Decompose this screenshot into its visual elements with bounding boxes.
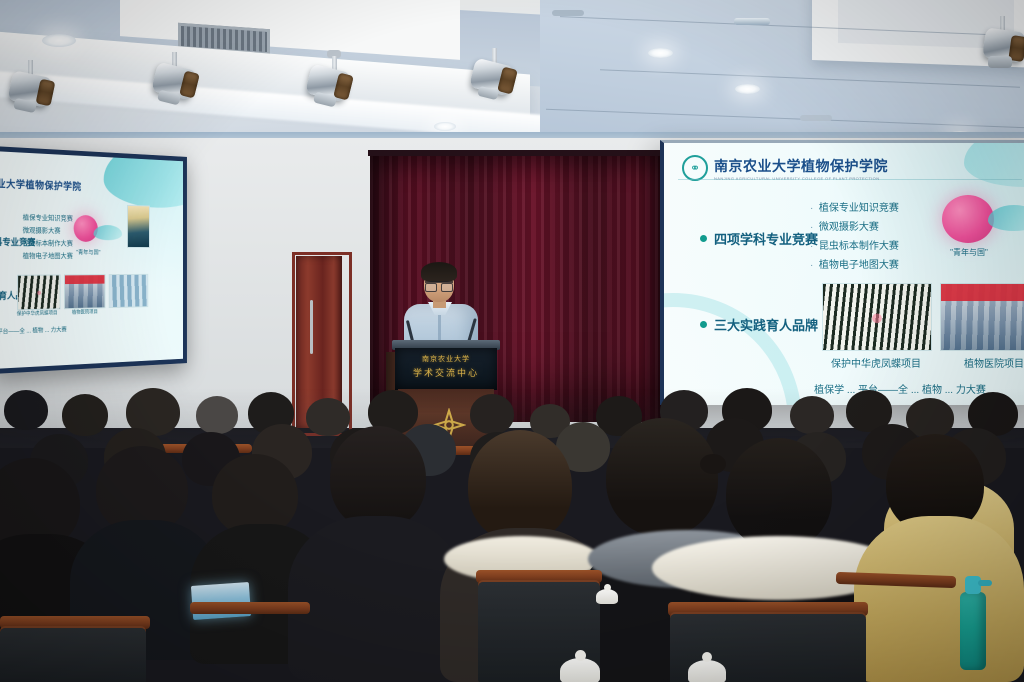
teacup[interactable] <box>596 584 618 604</box>
podium-text-line2: 学术交流中心 <box>395 366 497 379</box>
slide-graphic-teal <box>94 225 123 240</box>
projection-screen-left: 南京农业大学植物保护学院 教育管理 "431" 实践育人 四项学科专业竞赛 植保… <box>0 146 187 374</box>
hair-tie-bun <box>700 454 726 474</box>
slide-graphic-pink <box>942 195 994 243</box>
dash-icon: · <box>810 222 819 233</box>
chair-arm <box>190 602 310 614</box>
dash-icon: · <box>810 203 819 214</box>
podium-text-line1: 南京农业大学 <box>395 354 497 364</box>
audience-person-yellow-coat <box>854 516 1024 682</box>
audience-head <box>4 390 48 430</box>
curtain-rod <box>368 150 672 156</box>
slide-bullet-item: 微观摄影大赛 <box>23 225 73 238</box>
slide-bullet-row: · 植物电子地图大赛 <box>810 256 899 275</box>
slide-divider <box>678 179 1022 180</box>
audience-shoulders <box>288 516 464 680</box>
lecture-hall-photo: 南京农业大学植物保护学院 教育管理 "431" 实践育人 四项学科专业竞赛 植保… <box>0 0 1024 682</box>
slide-bullet-row: · 微观摄影大赛 <box>810 218 899 237</box>
teacup[interactable] <box>560 650 600 682</box>
laptop-screen[interactable] <box>191 582 251 620</box>
slide-photo-butterfly <box>17 274 60 310</box>
slide-bullet-item: 植物电子地图大赛 <box>23 250 73 263</box>
slide-section-heading: 三大实践育人品牌 <box>714 315 818 334</box>
downlight-icon <box>648 48 673 58</box>
slide-bullet-item: 昆虫标本制作大赛 <box>23 237 73 250</box>
slide-photo-butterfly <box>822 283 932 351</box>
audience-head <box>306 398 350 436</box>
slide-bullet-item: 昆虫标本制作大赛 <box>819 241 899 252</box>
glasses-icon <box>425 281 453 290</box>
slide-figure-caption: "青年与国" <box>71 248 105 257</box>
slide-bullet-row: · 昆虫标本制作大赛 <box>810 237 899 256</box>
slide-bullet-item: 植物电子地图大赛 <box>819 260 899 271</box>
audience-head <box>196 396 238 434</box>
audience-head-foreground <box>468 430 572 542</box>
audience-head <box>62 394 108 436</box>
dash-icon: · <box>810 241 819 252</box>
audience-head-foreground <box>606 418 718 536</box>
slide-bullet-item: 植保专业知识竞赛 <box>23 212 73 226</box>
downlight-icon <box>434 122 456 131</box>
slide-section-heading: 四项学科专业竞赛 <box>714 229 818 248</box>
slide-photo-caption: 保护中华虎凤蝶项目 <box>14 309 61 317</box>
slide-bullet-list: · 植保专业知识竞赛 · 微观摄影大赛 · 昆虫标本制作大赛 · 植物电子地图大… <box>810 199 899 275</box>
slide-bullet-item: 植保专业知识竞赛 <box>819 203 899 214</box>
slide-bullet-row: · 植保专业知识竞赛 <box>810 199 899 218</box>
projection-screen-right: ⚭ 南京农业大学植物保护学院 NANJING AGRICULTURAL UNIV… <box>660 140 1024 405</box>
slide-section-1: 四项学科专业竞赛 <box>700 229 818 248</box>
slide-photo-crowd <box>64 274 105 309</box>
university-logo-icon: ⚭ <box>682 155 708 181</box>
audience-head-foreground <box>726 438 832 550</box>
slide-bullet-list-left: 植保专业知识竞赛 微观摄影大赛 昆虫标本制作大赛 植物电子地图大赛 <box>23 212 73 263</box>
slide-photo-crowd <box>940 283 1024 351</box>
slide-photo-caption: 保护中华虎凤蝶项目 <box>820 355 932 370</box>
slide-photo-seed <box>127 205 150 248</box>
audience-area <box>0 388 1024 682</box>
slide-photo-extra <box>109 274 148 308</box>
downlight-icon <box>42 34 76 47</box>
dash-icon: · <box>810 260 819 271</box>
speaker-hair <box>421 262 457 282</box>
slide-brand-right: ⚭ 南京农业大学植物保护学院 NANJING AGRICULTURAL UNIV… <box>682 155 888 181</box>
podium-front-panel: 南京农业大学 学术交流中心 <box>395 348 497 390</box>
chair-back <box>0 628 146 682</box>
door-handle-icon[interactable] <box>310 300 313 354</box>
downlight-icon <box>735 84 760 94</box>
teacup[interactable] <box>688 652 726 682</box>
bullet-dot-icon <box>700 321 707 328</box>
slide-photo-caption: 植物医院项目 <box>938 355 1024 370</box>
ceiling-slot-vent-icon <box>800 115 832 121</box>
bullet-dot-icon <box>700 235 707 242</box>
ceiling-slot-light-icon <box>734 18 770 25</box>
audience-head <box>470 394 514 434</box>
ceiling <box>0 0 1024 150</box>
slide-bullet-item: 微观摄影大赛 <box>819 222 879 233</box>
slide-figure-caption: "青年与国" <box>932 247 1006 258</box>
ceiling-slot-vent-icon <box>552 10 584 16</box>
brand-name-text: 南京农业大学植物保护学院 <box>714 156 888 176</box>
slide-section-2: 三大实践育人品牌 <box>700 315 818 334</box>
slide-photo-caption: 植物医院项目 <box>62 308 107 316</box>
audience-head <box>790 396 834 434</box>
slide-graphic-pink <box>74 215 98 242</box>
water-bottle[interactable] <box>956 574 990 670</box>
audience-head-foreground <box>330 426 426 530</box>
